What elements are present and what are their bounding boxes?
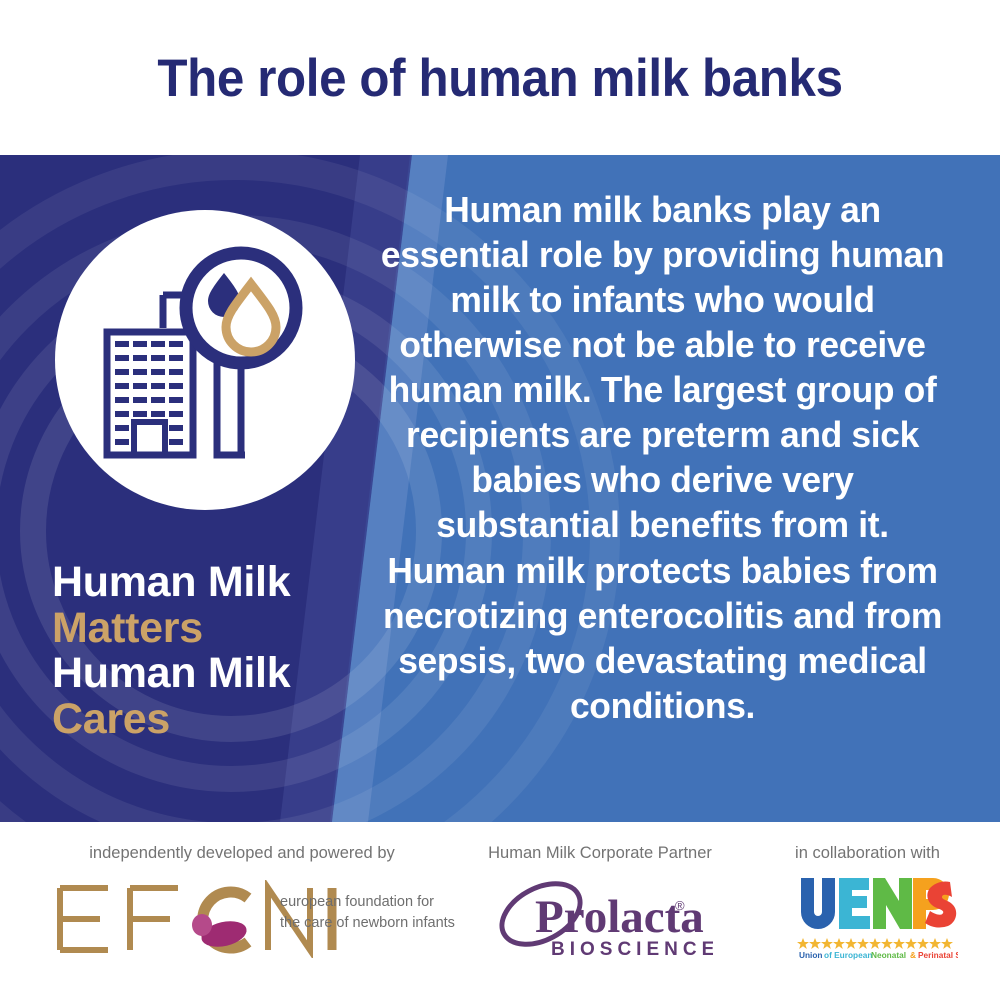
uenps-tagline-part: Perinatal Societies — [918, 950, 958, 960]
slogan-block: Human Milk Matters Human Milk Cares — [52, 560, 290, 742]
slogan-line-2: Matters — [52, 606, 290, 652]
efcni-caption: independently developed and powered by — [22, 844, 462, 863]
prolacta-registered-mark: ® — [675, 898, 685, 913]
footer-bar: independently developed and powered by — [0, 822, 1000, 1000]
infographic-page: The role of human milk banks — [0, 0, 1000, 1000]
body-paragraph: Human milk banks play an essential role … — [379, 187, 946, 728]
uenps-caption: in collaboration with — [745, 844, 990, 863]
slogan-line-4: Cares — [52, 697, 290, 743]
slogan-line-1: Human Milk — [52, 560, 290, 606]
uenps-tagline-part: & — [910, 950, 916, 960]
page-title: The role of human milk banks — [35, 48, 965, 109]
efcni-tagline-line-2: the care of newborn infants — [280, 913, 455, 934]
uenps-tagline: Union of European Neonatal & Perinatal S… — [799, 950, 958, 960]
title-bar: The role of human milk banks — [0, 0, 1000, 155]
efcni-tagline: european foundation for the care of newb… — [280, 892, 455, 933]
star-row — [797, 938, 953, 949]
main-panel: Human Milk Matters Human Milk Cares Huma… — [0, 155, 1000, 822]
uenps-tagline-part: of European — [824, 950, 872, 960]
uenps-tagline-part: Neonatal — [871, 950, 906, 960]
milk-bank-building-droplet-icon — [55, 210, 355, 510]
slogan-line-3: Human Milk — [52, 651, 290, 697]
efcni-tagline-line-1: european foundation for — [280, 892, 455, 913]
prolacta-logo: Prolacta ® BIOSCIENCE — [493, 876, 713, 962]
uenps-tagline-part: Union — [799, 950, 823, 960]
prolacta-subtitle: BIOSCIENCE — [551, 939, 713, 960]
uenps-logo: Union of European Neonatal & Perinatal S… — [793, 872, 958, 960]
prolacta-caption: Human Milk Corporate Partner — [455, 844, 745, 863]
